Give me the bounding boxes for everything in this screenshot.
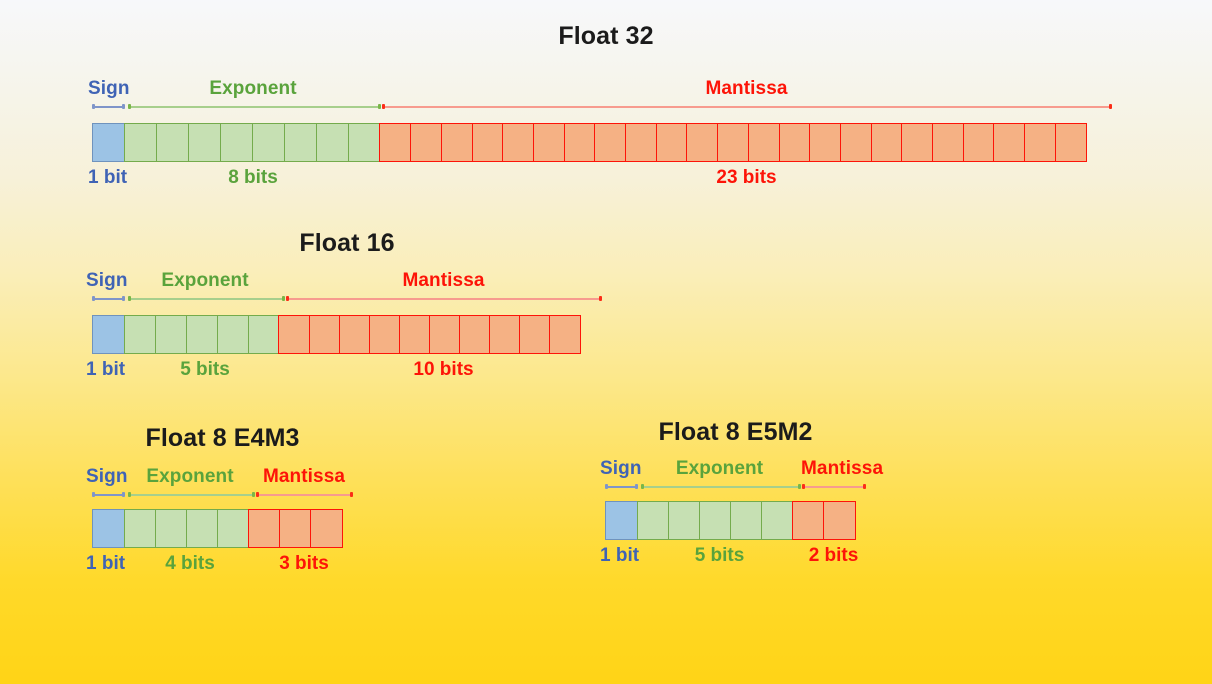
bit-cell-mantissa: [823, 501, 856, 540]
bit-cell-exponent: [699, 501, 732, 540]
bits-label-exponent-float8-e5m2: 5 bits: [638, 545, 801, 567]
bit-cell-sign: [605, 501, 638, 540]
field-label-mantissa-float8-e5m2: Mantissa: [801, 458, 866, 480]
format-title-float8-e5m2: Float 8 E5M2: [605, 418, 866, 447]
field-label-exponent-float8-e5m2: Exponent: [638, 458, 801, 480]
bit-bar-float8-e5m2: [605, 501, 866, 540]
span-rule-mantissa-float8-e5m2: [802, 483, 866, 490]
bits-label-mantissa-float8-e5m2: 2 bits: [801, 545, 866, 567]
span-rule-exponent-float8-e5m2: [641, 483, 801, 490]
slide-root: { "slide": { "background_top_color": "#f…: [0, 0, 1212, 684]
bit-cell-exponent: [761, 501, 794, 540]
format-block-float8-e5m2: Float 8 E5M2 Sign Exponent Mantissa 1 bi…: [0, 0, 1000, 600]
field-label-sign-float8-e5m2: Sign: [600, 458, 642, 480]
bits-label-sign-float8-e5m2: 1 bit: [600, 545, 639, 567]
span-rule-sign-float8-e5m2: [605, 483, 638, 490]
bit-cell-exponent: [637, 501, 670, 540]
bit-cell-exponent: [668, 501, 701, 540]
bit-cell-mantissa: [792, 501, 825, 540]
bit-cell-exponent: [730, 501, 763, 540]
